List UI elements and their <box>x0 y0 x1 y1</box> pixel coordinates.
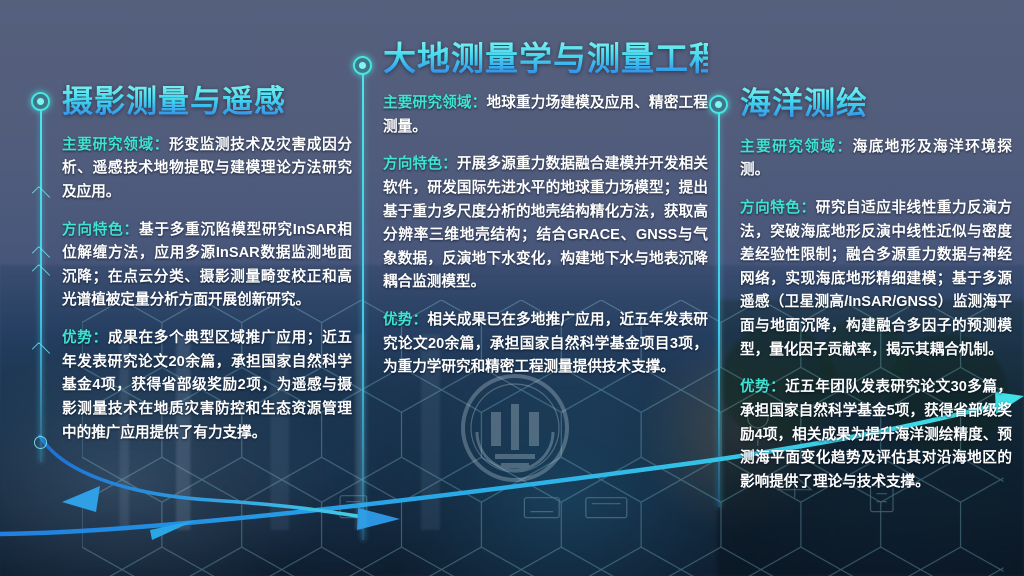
section-label: 方向特色： <box>740 200 816 216</box>
section-label: 主要研究领域： <box>62 137 169 153</box>
section-text: 成果在多个典型区域推广应用；近五年发表研究论文20余篇，承担国家自然科学基金4项… <box>62 330 352 441</box>
ring-dot-node-icon <box>31 92 50 111</box>
section-label: 优势： <box>740 379 785 395</box>
section-label: 主要研究领域： <box>383 95 486 111</box>
section-direction-features: 方向特色：开展多源重力数据融合建模并开发相关软件，研发国际先进水平的地球重力场模… <box>383 153 708 295</box>
section-advantages: 优势：成果在多个典型区域推广应用；近五年发表研究论文20余篇，承担国家自然科学基… <box>62 327 352 445</box>
university-emblem-icon <box>455 368 575 488</box>
section-text: 相关成果已在多地推广应用，近五年发表研究论文20余篇，承担国家自然科学基金项目3… <box>383 312 708 375</box>
section-research-areas: 主要研究领域：形变监测技术及灾害成因分析、遥感技术地物提取与建模理论方法研究及应… <box>62 134 352 205</box>
section-text: 开展多源重力数据融合建模并开发相关软件，研发国际先进水平的地球重力场模型；提出基… <box>383 156 708 290</box>
column-title: 海洋测绘 <box>740 86 1012 122</box>
section-direction-features: 方向特色：研究自适应非线性重力反演方法，突破海底地形反演中线性近似与密度差经验性… <box>740 197 1012 362</box>
section-research-areas: 主要研究领域：地球重力场建模及应用、精密工程测量。 <box>383 92 708 139</box>
section-advantages: 优势：相关成果已在多地推广应用，近五年发表研究论文20余篇，承担国家自然科学基金… <box>383 309 708 380</box>
column-geodesy-surveying-engineering: 大地测量学与测量工程 主要研究领域：地球重力场建模及应用、精密工程测量。 方向特… <box>383 40 708 380</box>
section-advantages: 优势：近五年团队发表研究论文30多篇，承担国家自然科学基金5项，获得省部级奖励4… <box>740 376 1012 494</box>
section-label: 方向特色： <box>62 222 139 238</box>
section-label: 主要研究领域： <box>740 139 853 155</box>
section-text: 研究自适应非线性重力反演方法，突破海底地形反演中线性近似与密度差经验性限制；融合… <box>740 200 1012 358</box>
section-label: 优势： <box>383 312 427 328</box>
section-label: 方向特色： <box>383 156 457 172</box>
column-photogrammetry-remote-sensing: 摄影测量与遥感 主要研究领域：形变监测技术及灾害成因分析、遥感技术地物提取与建模… <box>62 84 352 445</box>
section-text: 近五年团队发表研究论文30多篇，承担国家自然科学基金5项，获得省部级奖励4项，相… <box>740 379 1012 490</box>
column-title: 摄影测量与遥感 <box>62 84 352 120</box>
ring-dot-node-icon <box>709 95 728 114</box>
column-title: 大地测量学与测量工程 <box>383 40 708 78</box>
section-direction-features: 方向特色：基于多重沉陷模型研究InSAR相位解缠方法，应用多源InSAR数据监测… <box>62 219 352 314</box>
ring-dot-node-icon <box>353 56 372 75</box>
slide-canvas: 摄影测量与遥感 主要研究领域：形变监测技术及灾害成因分析、遥感技术地物提取与建模… <box>0 0 1024 576</box>
section-research-areas: 主要研究领域：海底地形及海洋环境探测。 <box>740 136 1012 183</box>
column-marine-surveying-mapping: 海洋测绘 主要研究领域：海底地形及海洋环境探测。 方向特色：研究自适应非线性重力… <box>740 86 1012 495</box>
section-label: 优势： <box>62 330 108 346</box>
